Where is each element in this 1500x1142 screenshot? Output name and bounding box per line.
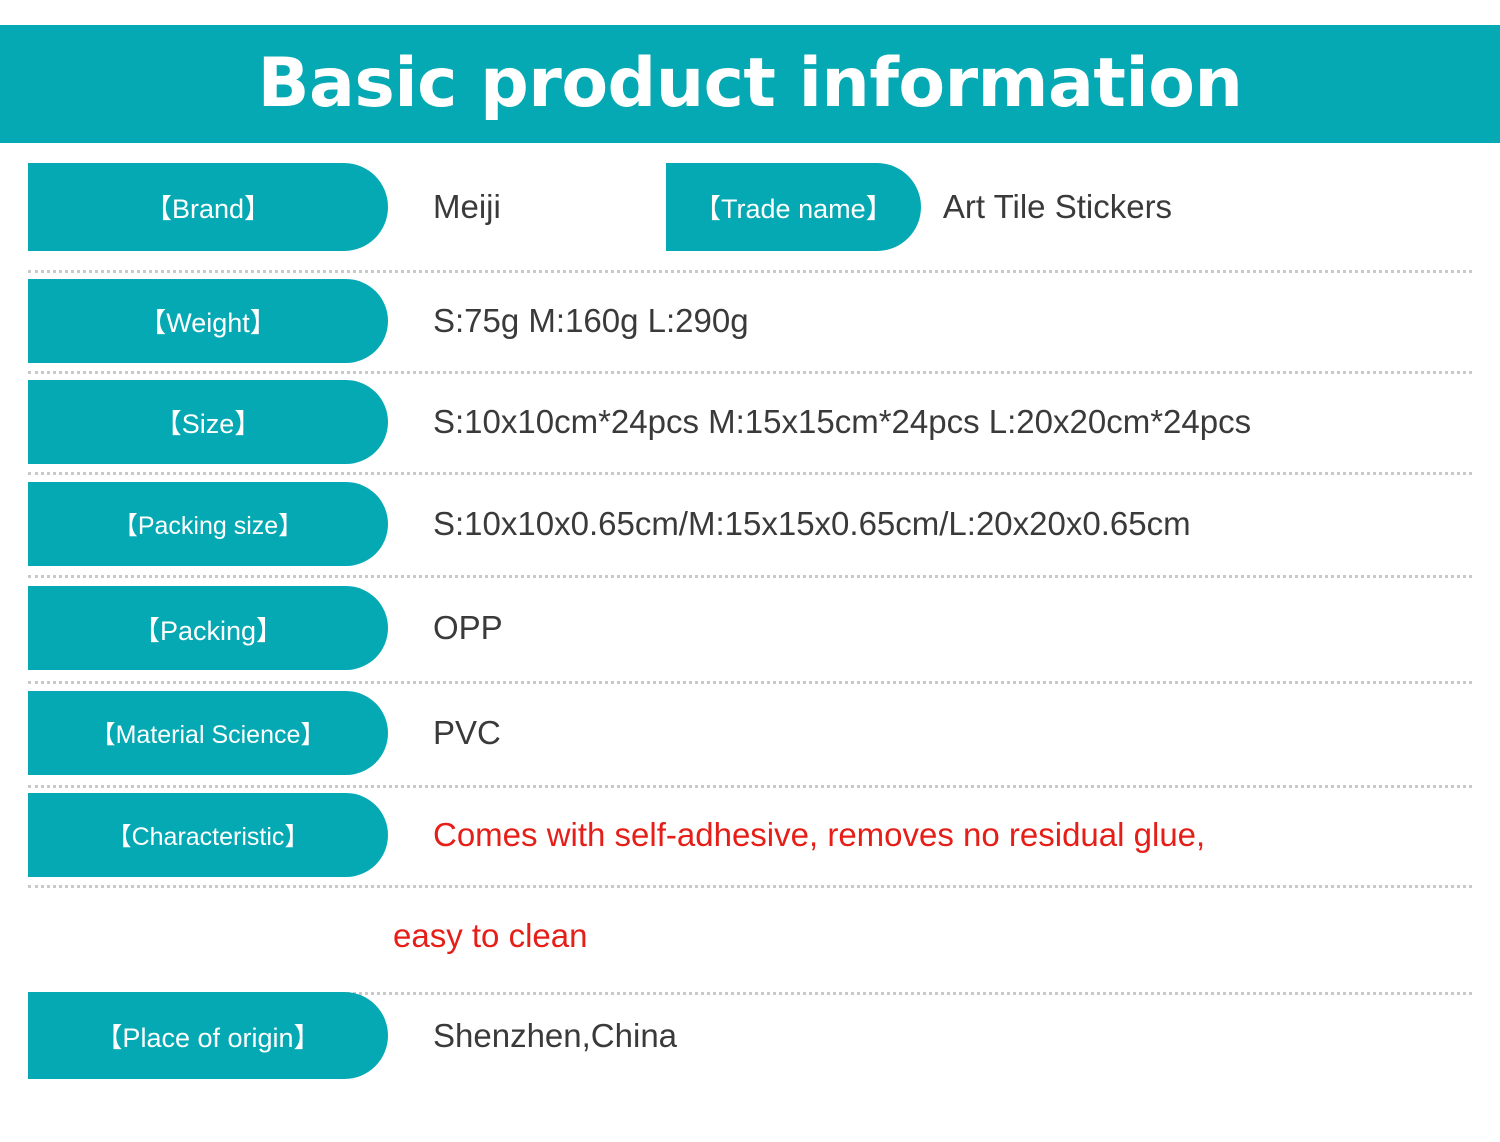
spec-label-text: 【Characteristic】 bbox=[107, 817, 310, 853]
spec-label-text: 【Packing size】 bbox=[113, 506, 303, 542]
table-row: 【Brand】 Meiji 【Trade name】 Art Tile Stic… bbox=[0, 143, 1500, 270]
spec-value-brand: Meiji bbox=[433, 188, 501, 226]
spec-value-trade-name: Art Tile Stickers bbox=[943, 188, 1172, 226]
spec-label-text: 【Trade name】 bbox=[694, 187, 893, 226]
spec-value-weight: S:75g M:160g L:290g bbox=[433, 302, 749, 340]
spec-label-characteristic: 【Characteristic】 bbox=[28, 793, 388, 877]
spec-label-place-of-origin: 【Place of origin】 bbox=[28, 992, 388, 1079]
header-banner: Basic product information bbox=[0, 25, 1500, 143]
spec-label-weight: 【Weight】 bbox=[28, 279, 388, 363]
product-info-page: Basic product information 【Brand】 Meiji … bbox=[0, 0, 1500, 1138]
spec-value-size: S:10x10cm*24pcs M:15x15cm*24pcs L:20x20c… bbox=[433, 403, 1251, 441]
spec-label-packing: 【Packing】 bbox=[28, 586, 388, 670]
spec-value-packing-size: S:10x10x0.65cm/M:15x15x0.65cm/L:20x20x0.… bbox=[433, 505, 1191, 543]
table-row: 【Packing size】 S:10x10x0.65cm/M:15x15x0.… bbox=[0, 472, 1500, 575]
table-row: 【Material Science】 PVC bbox=[0, 681, 1500, 785]
spec-label-text: 【Packing】 bbox=[133, 609, 283, 648]
spec-label-brand: 【Brand】 bbox=[28, 163, 388, 251]
spec-label-text: 【Weight】 bbox=[139, 301, 277, 340]
spec-label-material-science: 【Material Science】 bbox=[28, 691, 388, 775]
table-row: 【Place of origin】 Shenzhen,China bbox=[0, 992, 1500, 1142]
table-row: 【Size】 S:10x10cm*24pcs M:15x15cm*24pcs L… bbox=[0, 371, 1500, 472]
spec-label-size: 【Size】 bbox=[28, 380, 388, 464]
spec-value-material-science: PVC bbox=[433, 714, 501, 752]
spec-value-place-of-origin: Shenzhen,China bbox=[433, 1017, 677, 1055]
spec-table: 【Brand】 Meiji 【Trade name】 Art Tile Stic… bbox=[0, 143, 1500, 1142]
spec-value-packing: OPP bbox=[433, 609, 503, 647]
table-row: 【Characteristic】 Comes with self-adhesiv… bbox=[0, 785, 1500, 885]
table-row: 【Packing】 OPP bbox=[0, 575, 1500, 681]
spec-label-packing-size: 【Packing size】 bbox=[28, 482, 388, 566]
table-row: 【Weight】 S:75g M:160g L:290g bbox=[0, 270, 1500, 371]
spec-label-trade-name: 【Trade name】 bbox=[666, 163, 921, 251]
spec-label-text: 【Brand】 bbox=[145, 187, 271, 226]
spec-value-characteristic: Comes with self-adhesive, removes no res… bbox=[433, 816, 1205, 854]
table-row-continuation: easy to clean bbox=[0, 885, 1500, 986]
spec-label-text: 【Material Science】 bbox=[91, 715, 326, 751]
page-title: Basic product information bbox=[258, 50, 1243, 118]
spec-label-text: 【Size】 bbox=[155, 402, 262, 441]
spec-label-text: 【Place of origin】 bbox=[95, 1016, 320, 1055]
spec-value-characteristic-line2: easy to clean bbox=[393, 917, 587, 955]
